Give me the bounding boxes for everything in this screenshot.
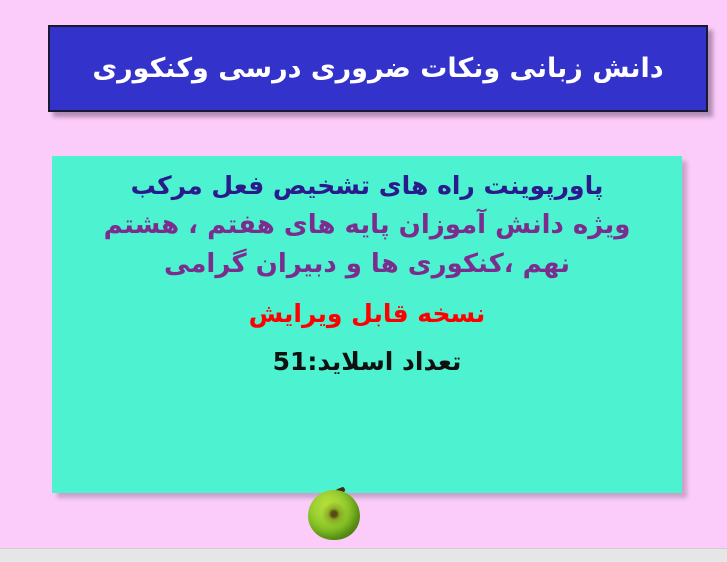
content-line-slide-count: تعداد اسلاید:15: [52, 346, 682, 377]
content-line-audience-first: ویژه دانش آموزان پایه های هفتم ، هشتم: [52, 209, 682, 242]
slide-title-banner: دانش زبانی ونکات ضروری درسی وکنکوری: [48, 25, 708, 112]
content-line-editable-notice: نسخه قابل ویرایش: [52, 298, 682, 329]
apple-body-icon: [308, 490, 360, 540]
slide-canvas: دانش زبانی ونکات ضروری درسی وکنکوری پاور…: [0, 0, 727, 548]
content-line-audience-second: نهم ،کنکوری ها و دبیران گرامی: [52, 248, 682, 281]
content-line-subject: پاورپوینت راه های تشخیص فعل مرکب: [52, 170, 682, 201]
slide-content-panel: پاورپوینت راه های تشخیص فعل مرکب ویژه دا…: [52, 156, 682, 493]
page-title: دانش زبانی ونکات ضروری درسی وکنکوری: [78, 52, 677, 86]
green-apple-icon: [308, 488, 360, 540]
window-bottom-strip: [0, 548, 727, 562]
